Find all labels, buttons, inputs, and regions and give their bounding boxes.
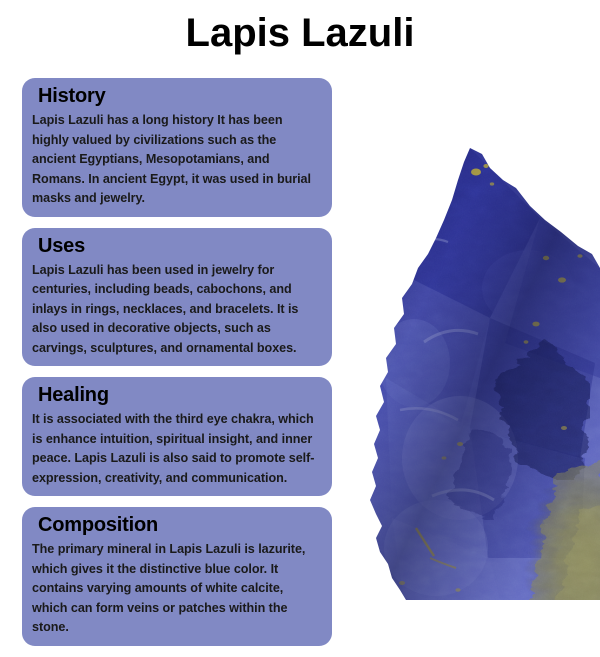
info-card-uses: Uses Lapis Lazuli has been used in jewel… [22, 228, 332, 367]
card-heading-uses: Uses [38, 234, 322, 259]
info-card-history: History Lapis Lazuli has a long history … [22, 78, 332, 217]
card-body-history: Lapis Lazuli has a long history It has b… [32, 111, 322, 209]
card-heading-healing: Healing [38, 383, 322, 408]
card-body-uses: Lapis Lazuli has been used in jewelry fo… [32, 261, 322, 359]
info-card-composition: Composition The primary mineral in Lapis… [22, 507, 332, 646]
info-card-healing: Healing It is associated with the third … [22, 377, 332, 496]
card-body-healing: It is associated with the third eye chak… [32, 410, 322, 488]
card-heading-history: History [38, 84, 322, 109]
page-title: Lapis Lazuli [0, 8, 600, 58]
card-heading-composition: Composition [38, 513, 322, 538]
info-cards-column: History Lapis Lazuli has a long history … [22, 78, 332, 657]
rock-illustration [340, 128, 600, 600]
lapis-lazuli-specimen-photo [340, 128, 600, 600]
card-body-composition: The primary mineral in Lapis Lazuli is l… [32, 540, 322, 638]
rock-body [340, 128, 600, 600]
